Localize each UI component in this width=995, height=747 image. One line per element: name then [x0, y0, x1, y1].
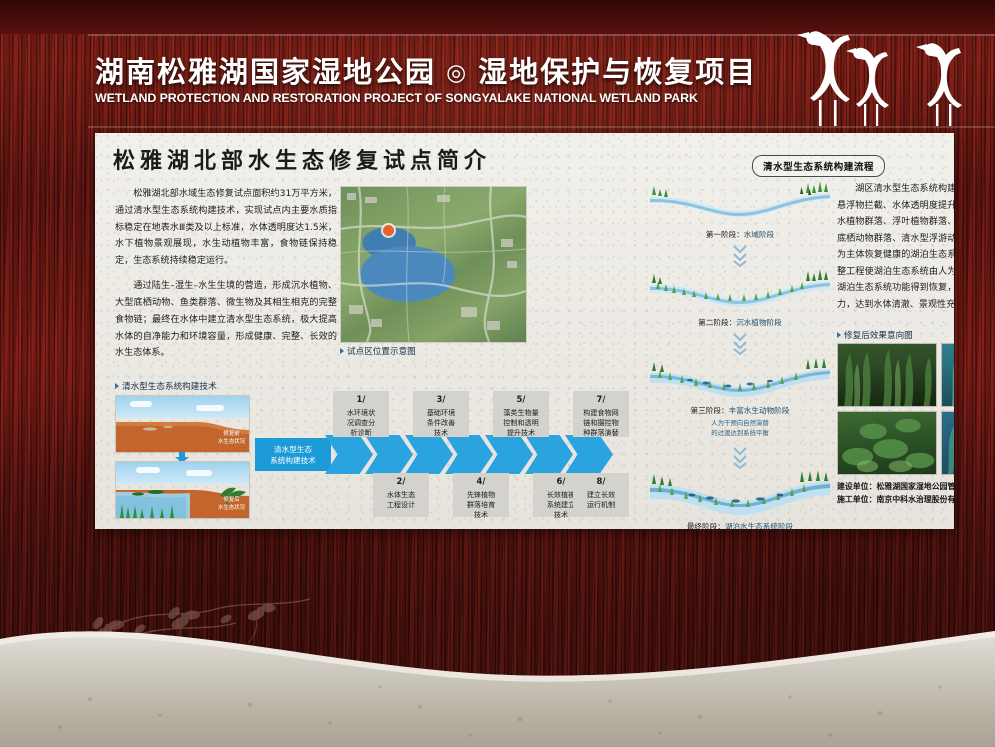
credit-contractor: 施工单位：南京中科水治理股份有限公司	[837, 494, 954, 507]
illustration-after: 修复后水生态状况	[115, 461, 250, 519]
stage-3-caption: 第三阶段：丰富水生动物阶段	[650, 405, 830, 416]
result-photo-3	[837, 411, 937, 475]
stage-3-prefix: 第三阶段：	[691, 406, 729, 415]
triangle-bullet-icon	[340, 348, 344, 354]
stage-2-caption: 第二阶段：沉水植物阶段	[650, 317, 830, 328]
page-title: 湖南松雅湖国家湿地公园 ◎ 湿地保护与恢复项目	[95, 49, 757, 91]
map-building-blocks	[341, 187, 526, 342]
ring-icon: ◎	[446, 59, 468, 85]
flow-start-label: 清水型生态系统构建技术	[255, 438, 331, 471]
result-photo-1	[837, 343, 937, 407]
stage-final-name: 湖泊水生态系统阶段	[725, 522, 793, 529]
stage-1-prefix: 第一阶段：	[706, 230, 744, 239]
stage-final-prefix: 最终阶段：	[687, 522, 725, 529]
intro-paragraph-1: 松雅湖北部水域生态修复试点面积约31万平方米，通过清水型生态系统构建技术，实现试…	[115, 186, 337, 270]
credit-owner: 建设单位：松雅湖国家湿地公园管理局	[837, 481, 954, 494]
stage-3-basin	[650, 357, 830, 401]
flow-step-3[interactable]: 3/基础环境条件改善技术	[413, 391, 469, 437]
poster-header: 湖南松雅湖国家湿地公园 ◎ 湿地保护与恢复项目 WETLAND PROTECTI…	[0, 34, 995, 126]
location-map-image	[340, 186, 527, 343]
flow-step-4[interactable]: 4/先锋植物群落培育技术	[453, 473, 509, 517]
content-panel: 松雅湖北部水生态修复试点简介 松雅湖北部水域生态修复试点面积约31万平方米，通过…	[95, 133, 954, 529]
triangle-bullet-icon	[837, 332, 841, 338]
chevron-down-icon	[731, 445, 749, 469]
process-flow-diagram: 清水型生态系统构建技术 1/水环境状况调查分析诊断 2/水体生态工程设计 3/基…	[255, 391, 632, 517]
right-paragraph: 湖区清水型生态系统构建工程是以基底改良、悬浮物拦截、水体透明度提升等为基础，以构…	[837, 181, 954, 313]
stage-final-caption: 最终阶段：湖泊水生态系统阶段	[650, 521, 830, 529]
stage-3-subtext: 人为干预向自然演替的过渡达到系统平衡	[650, 419, 830, 438]
stage-3-name: 丰富水生动物阶段	[729, 406, 790, 415]
stage-1-caption: 第一阶段：水域阶段	[650, 229, 830, 240]
title-cn-left: 湖南松雅湖国家湿地公园	[95, 57, 436, 89]
flow-step-5[interactable]: 5/藻类生物量控制和透明提升技术	[493, 391, 549, 437]
before-after-illustrations: 修复前水生态状况	[115, 395, 248, 517]
tech-section-label: 清水型生态系统构建技术	[115, 380, 217, 392]
page-subtitle-en: WETLAND PROTECTION AND RESTORATION PROJE…	[95, 91, 698, 105]
poster-canvas: 湖南松雅湖国家湿地公园 ◎ 湿地保护与恢复项目 WETLAND PROTECTI…	[0, 0, 995, 747]
flow-step-2[interactable]: 2/水体生态工程设计	[373, 473, 429, 517]
right-section-header: 清水型生态系统构建流程	[752, 155, 885, 177]
map-location-pin	[383, 225, 394, 236]
crane-bird-icon	[771, 16, 981, 128]
title-cn-right: 湿地保护与恢复项目	[478, 57, 757, 89]
triangle-bullet-icon	[115, 383, 119, 389]
flow-step-1[interactable]: 1/水环境状况调查分析诊断	[333, 391, 389, 437]
illustration-before-tag: 修复前水生态状况	[218, 431, 245, 446]
chevron-down-icon	[731, 243, 749, 267]
flow-start-text: 清水型生态系统构建技术	[270, 444, 316, 466]
intro-text-block: 松雅湖北部水域生态修复试点面积约31万平方米，通过清水型生态系统构建技术，实现试…	[115, 186, 337, 370]
illustration-before: 修复前水生态状况	[115, 395, 250, 453]
flow-step-8[interactable]: 8/建立长效运行机制	[573, 473, 629, 517]
intro-paragraph-2: 通过陆生–湿生–水生生境的营造，形成沉水植物、大型底栖动物、鱼类群落、微生物及其…	[115, 278, 337, 362]
flow-step-7[interactable]: 7/构建食物网链和摄控物种群落演替	[573, 391, 629, 437]
stone-wave-footer	[0, 587, 995, 747]
stage-sequence: 第一阶段：水域阶段	[650, 181, 830, 515]
section-title: 松雅湖北部水生态修复试点简介	[113, 143, 491, 175]
stage-2-name: 沉水植物阶段	[736, 318, 782, 327]
flow-chevron	[325, 435, 373, 474]
result-photo-4	[941, 411, 955, 475]
tech-label-text: 清水型生态系统构建技术	[122, 380, 217, 392]
photos-label-text: 修复后效果意向图	[844, 329, 913, 341]
stage-1-name: 水域阶段	[744, 230, 774, 239]
stage-2-basin	[650, 269, 830, 313]
result-photo-2	[941, 343, 955, 407]
photos-section-label: 修复后效果意向图	[837, 329, 913, 341]
stage-1-basin	[650, 181, 830, 225]
stage-2-prefix: 第二阶段：	[698, 318, 736, 327]
map-caption: 试点区位置示意图	[340, 345, 416, 357]
stage-final-basin	[650, 471, 830, 519]
chevron-down-icon	[731, 331, 749, 355]
result-photo-grid	[837, 343, 954, 475]
illustration-after-tag: 修复后水生态状况	[218, 497, 245, 512]
right-pill-title: 清水型生态系统构建流程	[752, 155, 885, 177]
credits-block: 建设单位：松雅湖国家湿地公园管理局 施工单位：南京中科水治理股份有限公司	[837, 481, 954, 507]
map-caption-label: 试点区位置示意图	[347, 345, 416, 357]
